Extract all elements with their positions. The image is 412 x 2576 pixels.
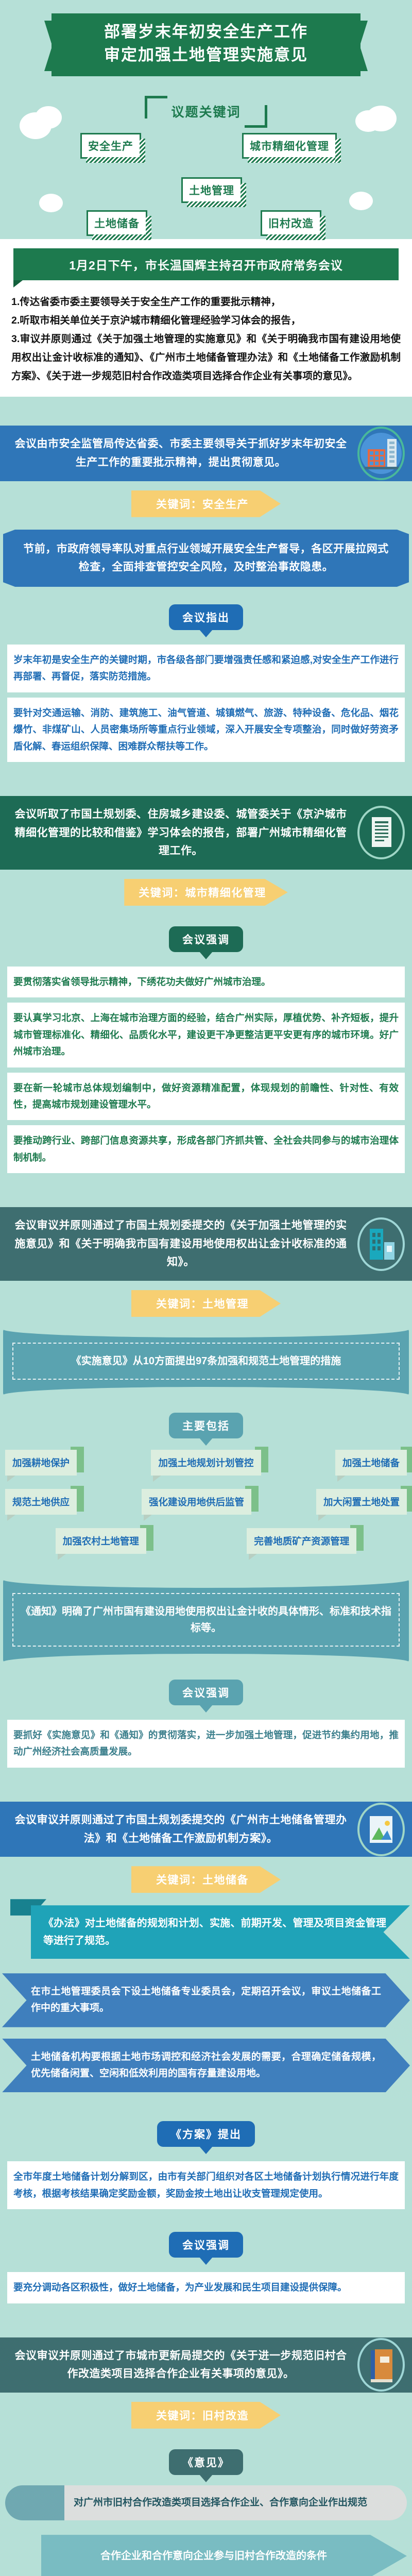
bubble-plan-proposes: 《方案》提出 bbox=[157, 2121, 255, 2147]
measure-tag[interactable]: 加强土地规划计划管控 bbox=[151, 1450, 261, 1476]
land-measure-tags: 加强耕地保护 加强土地规划计划管控 加强土地储备 规范土地供应 强化建设用地供后… bbox=[0, 1438, 412, 1570]
land-emphasis-bubble-wrap: 会议强调 bbox=[0, 1680, 412, 1705]
keyword-tag-land[interactable]: 土地管理 bbox=[181, 177, 242, 203]
reserve-banner: 会议审议并原则通过了市国土规划委提交的《广州市土地储备管理办法》和《土地储备工作… bbox=[0, 1802, 412, 1857]
keyword-arrow-safety[interactable]: 关键词：安全生产 bbox=[131, 490, 281, 517]
reserve-banner-text: 会议审议并原则通过了市国土规划委提交的《广州市土地储备管理办法》和《土地储备工作… bbox=[15, 1814, 347, 1844]
page-title-line-2: 审定加强土地管理实施意见 bbox=[57, 44, 355, 67]
land-measures-band: 《实施意见》从10方面提出97条加强和规范土地管理的措施 bbox=[3, 1329, 409, 1395]
bubble-opinion-document: 《意见》 bbox=[169, 2449, 243, 2475]
title-ribbon-body: 部署岁末年初安全生产工作 审定加强土地管理实施意见 bbox=[51, 13, 360, 76]
measure-tag[interactable]: 加强耕地保护 bbox=[5, 1450, 77, 1476]
safety-point: 岁末年初是安全生产的关键时期，市各级各部门要增强责任感和紧迫感,对安全生产工作进… bbox=[7, 645, 405, 692]
village-renovation-section: 会议审议并原则通过了市城市更新局提交的《关于进一步规范旧村合作改造类项目选择合作… bbox=[0, 2309, 412, 2576]
bubble-meeting-points-out: 会议指出 bbox=[169, 604, 243, 630]
agenda-item: 3.审议并原则通过《关于加强土地管理的实施意见》和《关于明确我市国有建设用地使用… bbox=[11, 330, 401, 385]
tag-accent bbox=[245, 1486, 259, 1512]
city-point: 要认真学习北京、上海在城市治理方面的经验，结合广州实际，厚植优势、补齐短板，提升… bbox=[7, 1003, 405, 1067]
measure-tag-row: 规范土地供应 强化建设用地供后监管 加大闲置土地处置 bbox=[5, 1489, 407, 1515]
city-bubble-wrap: 会议强调 bbox=[0, 926, 412, 952]
keyword-tag-village[interactable]: 旧村改造 bbox=[261, 210, 321, 236]
bracket-bottom-right-icon bbox=[245, 105, 267, 128]
pill-accent bbox=[5, 2485, 64, 2520]
city-management-section: 会议听取了市国土规划委、住房城乡建设委、城管委关于《京沪城市精细化管理的比较和借… bbox=[0, 767, 412, 1173]
bubble-main-includes: 主要包括 bbox=[169, 1413, 243, 1438]
tag-accent bbox=[140, 1525, 153, 1551]
land-banner-text: 会议审议并原则通过了市国土规划委提交的《关于加强土地管理的实施意见》和《关于明确… bbox=[15, 1219, 347, 1268]
keyword-arrow-reserve[interactable]: 关键词：土地储备 bbox=[131, 1866, 281, 1893]
village-banner: 会议审议并原则通过了市城市更新局提交的《关于进一步规范旧村合作改造类项目选择合作… bbox=[0, 2337, 412, 2393]
city-point: 要推动跨行业、跨部门信息资源共享，形成各部门齐抓共管、全社会共同参与的城市治理体… bbox=[7, 1125, 405, 1173]
measure-tag[interactable]: 加强土地储备 bbox=[335, 1450, 407, 1476]
cloud-decoration bbox=[35, 106, 62, 129]
bubble-meeting-emphasizes: 会议强调 bbox=[169, 2232, 243, 2258]
keyword-arrow-village[interactable]: 关键词：旧村改造 bbox=[131, 2402, 281, 2429]
land-notice-band-text: 《通知》明确了广州市国有建设用地使用权出让金计收的具体情形、标准和技术指标等。 bbox=[12, 1593, 400, 1647]
keyword-tag-reserve[interactable]: 土地储备 bbox=[87, 210, 147, 236]
document-icon bbox=[357, 806, 405, 859]
keywords-heading: 议题关键词 bbox=[142, 96, 270, 128]
keyword-tag-safety[interactable]: 安全生产 bbox=[80, 133, 141, 159]
safety-banner-text: 会议由市安全监管局传达省委、市委主要领导关于抓好岁末年初安全生产工作的重要批示精… bbox=[15, 438, 347, 468]
cloud-decoration bbox=[349, 192, 373, 210]
meeting-overview-section: 1月2日下午，市长温国辉主持召开市政府常务会议 1.传达省委市委主要领导关于安全… bbox=[0, 239, 412, 397]
hero-section: 部署岁末年初安全生产工作 审定加强土地管理实施意见 议题关键词 安全生产 城市精… bbox=[0, 0, 412, 206]
book-icon bbox=[357, 2338, 405, 2392]
bracket-top-left-icon bbox=[145, 96, 167, 118]
measure-tag[interactable]: 加强农村土地管理 bbox=[56, 1528, 146, 1554]
measure-tag-row: 加强农村土地管理 完善地质矿产资源管理 bbox=[5, 1528, 407, 1554]
land-banner: 会议审议并原则通过了市国土规划委提交的《关于加强土地管理的实施意见》和《关于明确… bbox=[0, 1207, 412, 1281]
village-banner-text: 会议审议并原则通过了市城市更新局提交的《关于进一步规范旧村合作改造类项目选择合作… bbox=[15, 2350, 347, 2380]
safety-sub-banner: 节前，市政府领导率队对重点行业领域开展安全生产督导，各区开展拉网式检查，全面排查… bbox=[3, 530, 409, 587]
tag-accent bbox=[255, 1447, 268, 1472]
measure-tag[interactable]: 规范土地供应 bbox=[5, 1489, 77, 1515]
measure-tag[interactable]: 完善地质矿产资源管理 bbox=[247, 1528, 356, 1554]
village-opinion-bubble-wrap: 《意见》 bbox=[0, 2449, 412, 2475]
city-keyword-wrap: 关键词：城市精细化管理 bbox=[0, 870, 412, 909]
tag-accent bbox=[71, 1447, 84, 1472]
village-scope-pill: 对广州市旧村合作改造类项目选择合作企业、合作意向企业作出规范 bbox=[5, 2485, 407, 2520]
infographic-page: 部署岁末年初安全生产工作 审定加强土地管理实施意见 议题关键词 安全生产 城市精… bbox=[0, 0, 412, 2576]
keyword-arrow-land[interactable]: 关键词：土地管理 bbox=[131, 1290, 281, 1317]
agenda-item: 2.听取市相关单位关于京沪城市精细化管理经验学习体会的报告， bbox=[11, 311, 401, 330]
village-item-condition: 合作企业和合作意向企业参与旧村合作改造的条件 bbox=[41, 2535, 407, 2576]
measure-tag[interactable]: 强化建设用地供后监管 bbox=[142, 1489, 251, 1515]
city-point: 要在新一轮城市总体规划编制中，做好资源精准配置，体现规划的前瞻性、针对性、有效性… bbox=[7, 1073, 405, 1121]
safety-point: 要针对交通运输、消防、建筑施工、油气管道、城镇燃气、旅游、特种设备、危化品、烟花… bbox=[7, 698, 405, 762]
bubble-meeting-emphasizes: 会议强调 bbox=[169, 1680, 243, 1705]
land-notice-band: 《通知》明确了广州市国有建设用地使用权出让金计收的具体情形、标准和技术指标等。 bbox=[3, 1580, 409, 1662]
building-icon bbox=[357, 427, 405, 480]
reserve-plan-bubble-wrap: 《方案》提出 bbox=[0, 2121, 412, 2147]
cloud-decoration bbox=[355, 110, 381, 132]
title-ribbon: 部署岁末年初安全生产工作 审定加强土地管理实施意见 bbox=[21, 9, 391, 81]
meeting-agenda: 1.传达省委市委主要领导关于安全生产工作的重要批示精神， 2.听取市相关单位关于… bbox=[0, 280, 412, 388]
keyword-arrow-city[interactable]: 关键词：城市精细化管理 bbox=[124, 879, 288, 906]
image-picture-icon bbox=[357, 1803, 405, 1856]
land-include-bubble-wrap: 主要包括 bbox=[0, 1413, 412, 1438]
reserve-chevron: 土地储备机构要根据土地市场调控和经济社会发展的需要，合理确定储备规模，优先储备闲… bbox=[2, 2039, 410, 2093]
measure-tag-row: 加强耕地保护 加强土地规划计划管控 加强土地储备 bbox=[5, 1450, 407, 1476]
village-scope-text: 对广州市旧村合作改造类项目选择合作企业、合作意向企业作出规范 bbox=[64, 2485, 407, 2520]
city-banner-text: 会议听取了市国土规划委、住房城乡建设委、城管委关于《京沪城市精细化管理的比较和借… bbox=[15, 808, 347, 857]
page-title-line-1: 部署岁末年初安全生产工作 bbox=[57, 21, 355, 44]
bubble-meeting-emphasizes: 会议强调 bbox=[169, 926, 243, 952]
city-banner: 会议听取了市国土规划委、住房城乡建设委、城管委关于《京沪城市精细化管理的比较和借… bbox=[0, 796, 412, 870]
safety-banner: 会议由市安全监管局传达省委、市委主要领导关于抓好岁末年初安全生产工作的重要批示精… bbox=[0, 426, 412, 481]
safety-sub-banner-text: 节前，市政府领导率队对重点行业领域开展安全生产督导，各区开展拉网式检查，全面排查… bbox=[23, 543, 389, 573]
land-management-section: 会议审议并原则通过了市国土规划委提交的《关于加强土地管理的实施意见》和《关于明确… bbox=[0, 1178, 412, 1768]
cloud-decoration bbox=[39, 194, 63, 212]
reserve-plan-text: 全市年度土地储备计划分解到区，由市有关部门组织对各区土地储备计划执行情况进行年度… bbox=[7, 2161, 405, 2209]
tag-accent bbox=[401, 1486, 412, 1512]
city-point: 要贯彻落实省领导批示精神，下绣花功夫做好广州城市治理。 bbox=[7, 967, 405, 997]
keyword-tag-city[interactable]: 城市精细化管理 bbox=[242, 133, 337, 159]
safety-bubble-wrap: 会议指出 bbox=[0, 604, 412, 630]
measure-tag[interactable]: 加大闲置土地处置 bbox=[316, 1489, 407, 1515]
land-keyword-wrap: 关键词：土地管理 bbox=[0, 1281, 412, 1320]
land-measures-band-text: 《实施意见》从10方面提出97条加强和规范土地管理的措施 bbox=[12, 1343, 400, 1380]
reserve-emphasis-bubble-wrap: 会议强调 bbox=[0, 2232, 412, 2258]
safety-keyword-wrap: 关键词：安全生产 bbox=[0, 481, 412, 520]
tag-accent bbox=[350, 1525, 364, 1551]
safety-production-section: 会议由市安全监管局传达省委、市委主要领导关于抓好岁末年初安全生产工作的重要批示精… bbox=[0, 397, 412, 762]
keywords-heading-label: 议题关键词 bbox=[171, 105, 241, 120]
reserve-keyword-wrap: 关键词：土地储备 bbox=[0, 1857, 412, 1896]
agenda-item: 1.传达省委市委主要领导关于安全生产工作的重要批示精神， bbox=[11, 293, 401, 311]
reserve-chevron: 在市土地管理委员会下设土地储备专业委员会，定期召开会议，审议土地储备工作中的重大… bbox=[2, 1973, 410, 2027]
land-emphasis-text: 要抓好《实施意见》和《通知》的贯彻落实，进一步加强土地管理，促进节约集约用地，推… bbox=[7, 1720, 405, 1768]
tag-accent bbox=[71, 1486, 84, 1512]
tag-accent bbox=[401, 1447, 412, 1472]
village-keyword-wrap: 关键词：旧村改造 bbox=[0, 2393, 412, 2432]
meeting-date-banner: 1月2日下午，市长温国辉主持召开市政府常务会议 bbox=[13, 248, 399, 280]
land-reserve-section: 会议审议并原则通过了市国土规划委提交的《广州市土地储备管理办法》和《土地储备工作… bbox=[0, 1773, 412, 2303]
reserve-emphasis-text: 要充分调动各区积极性，做好土地储备，为产业发展和民生项目建设提供保障。 bbox=[7, 2272, 405, 2303]
city-buildings-icon bbox=[357, 1217, 405, 1271]
reserve-method-flag: 《办法》对土地储备的规划和计划、实施、前期开发、管理及项目资金管理等进行了规范。 bbox=[31, 1905, 410, 1959]
